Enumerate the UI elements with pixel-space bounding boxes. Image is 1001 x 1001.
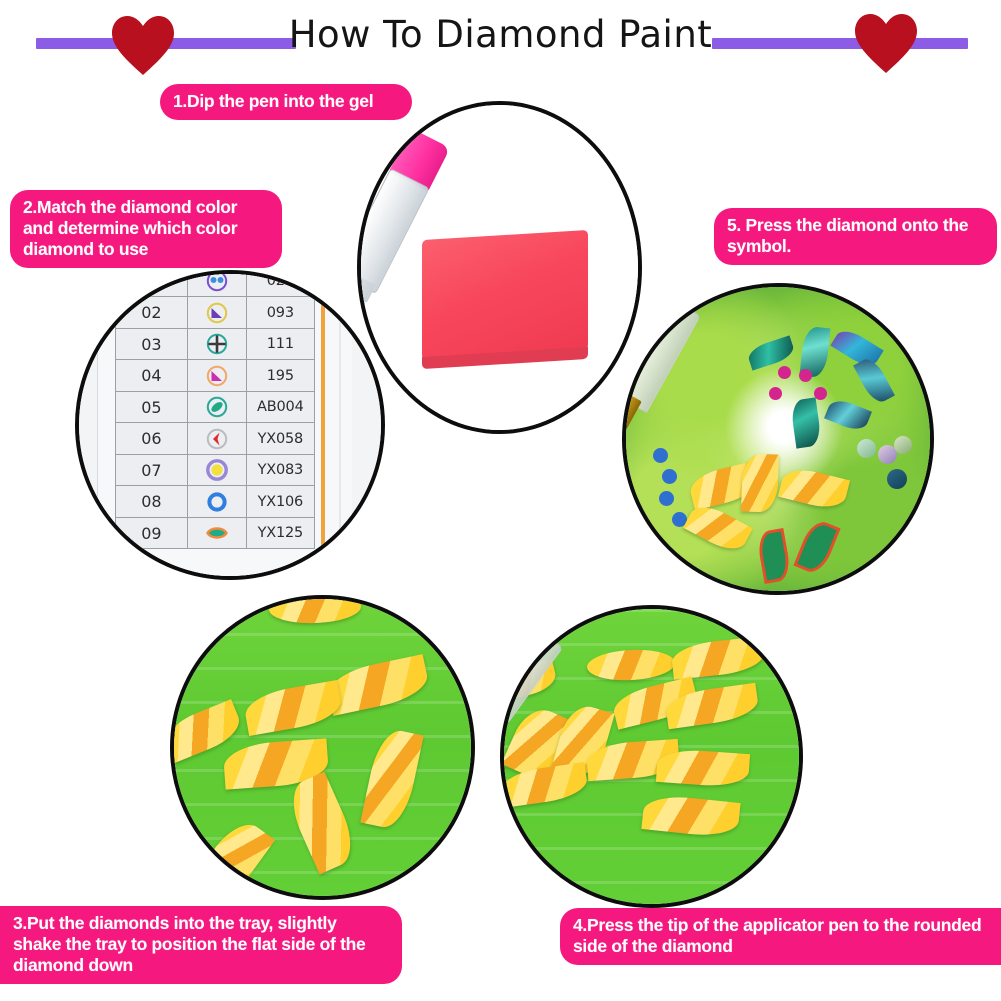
step-1-photo (357, 101, 642, 434)
step-3-photo (170, 595, 475, 900)
gem-dot (814, 387, 827, 400)
color-code-table: 0102802093031110419505AB00406YX05807YX08… (115, 270, 314, 549)
filled-circle-icon (187, 454, 246, 486)
color-row-number: 07 (116, 454, 187, 486)
applicator-pen (622, 296, 701, 473)
gem-marquise (853, 355, 895, 406)
step-4-photo (500, 605, 803, 908)
color-row-number: 03 (116, 328, 187, 360)
chart-accent-line (321, 270, 325, 580)
table-row: 08YX106 (116, 486, 314, 518)
pickup-scene (504, 609, 799, 904)
gem-dot (857, 439, 876, 458)
gem-yellow (641, 793, 740, 839)
pen-tip (500, 700, 503, 765)
step-5-label: 5. Press the diamond onto the symbol. (714, 208, 997, 265)
step-2-label: 2.Match the diamond color and determine … (10, 190, 282, 268)
color-row-code: 111 (247, 328, 314, 360)
double-dot-icon (187, 270, 246, 297)
color-row-code: 195 (247, 360, 314, 392)
left-chevron-icon (187, 423, 246, 455)
leaf-icon (187, 517, 246, 549)
diamond-canvas-scene (626, 287, 930, 591)
gem-yellow (189, 814, 275, 900)
gem-dot (662, 469, 677, 484)
pen-body (622, 296, 701, 413)
gem-marquise (790, 398, 822, 449)
color-row-code: 028 (247, 270, 314, 297)
color-chart-scene: 0102802093031110419505AB00406YX05807YX08… (79, 274, 381, 576)
gem-yellow (282, 772, 361, 875)
table-row: 01028 (116, 270, 314, 297)
gem-yellow (243, 680, 344, 736)
color-row-number: 01 (116, 270, 187, 297)
gem-dot (653, 448, 668, 463)
color-row-number: 06 (116, 423, 187, 455)
step-4-label: 4.Press the tip of the applicator pen to… (560, 908, 1001, 965)
table-row: 09YX125 (116, 517, 314, 549)
table-row: 05AB004 (116, 391, 314, 423)
oval-icon (187, 391, 246, 423)
pen-tip (622, 392, 641, 471)
diamond-tray-scene (174, 599, 471, 896)
color-row-number: 02 (116, 297, 187, 329)
color-row-code: YX083 (247, 454, 314, 486)
gem-yellow-petal (741, 454, 779, 513)
gem-marquise (745, 335, 796, 370)
plus-icon (187, 328, 246, 360)
header: How To Diamond Paint (0, 0, 1001, 78)
color-row-code: YX058 (247, 423, 314, 455)
step-5-photo (622, 283, 934, 595)
table-row: 04195 (116, 360, 314, 392)
gem-yellow (360, 726, 423, 831)
gem-dot (894, 436, 912, 454)
gem-dot (778, 366, 791, 379)
step-2-photo: 0102802093031110419505AB00406YX05807YX08… (75, 270, 385, 580)
chart-accent-line-secondary (339, 270, 341, 580)
gem-dot (659, 491, 674, 506)
step-3-label: 3.Put the diamonds into the tray, slight… (0, 906, 402, 984)
table-row: 07YX083 (116, 454, 314, 486)
table-row: 06YX058 (116, 423, 314, 455)
gem-yellow (586, 648, 675, 683)
page-title: How To Diamond Paint (0, 13, 1001, 56)
color-row-number: 05 (116, 391, 187, 423)
gem-yellow-petal (778, 465, 850, 513)
gem-marquise (824, 396, 872, 434)
color-row-number: 09 (116, 517, 187, 549)
ring-icon (187, 486, 246, 518)
gem-yellow (325, 654, 432, 716)
color-row-code: 093 (247, 297, 314, 329)
gem-dot (799, 369, 812, 382)
gel-scene (361, 105, 638, 430)
color-row-number: 04 (116, 360, 187, 392)
gem-yellow (671, 637, 766, 680)
infographic-canvas: How To Diamond Paint 1.Dip the pen into … (0, 0, 1001, 1001)
gem-yellow (269, 595, 362, 625)
color-row-code: YX106 (247, 486, 314, 518)
color-row-code: AB004 (247, 391, 314, 423)
color-row-number: 08 (116, 486, 187, 518)
printed-symbol-petal (755, 528, 792, 584)
triangle-icon (187, 297, 246, 329)
pink-gel-pad (422, 230, 588, 360)
gem-dot (887, 469, 907, 489)
printed-symbol-petal (794, 517, 841, 576)
table-row: 03111 (116, 328, 314, 360)
gem-dot (769, 387, 782, 400)
triangle-icon (187, 360, 246, 392)
table-row: 02093 (116, 297, 314, 329)
color-row-code: YX125 (247, 517, 314, 549)
gem-yellow (656, 747, 750, 787)
